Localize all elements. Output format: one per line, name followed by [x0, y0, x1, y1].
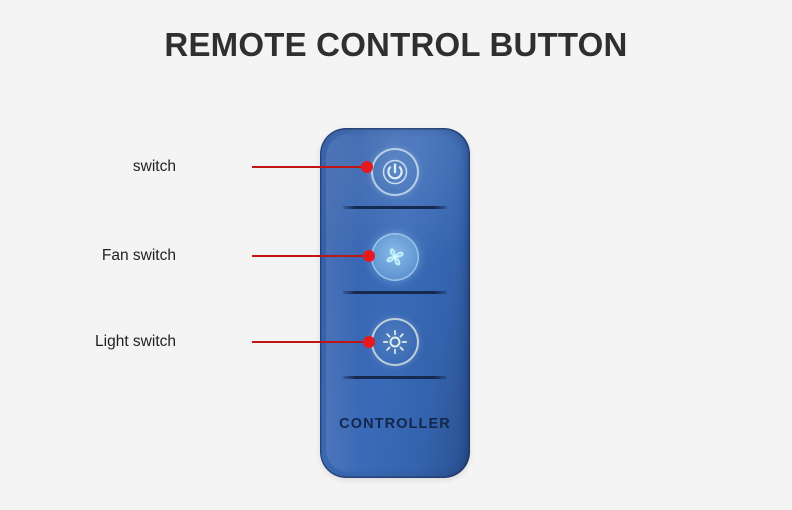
callout-label-light-switch: Light switch	[30, 333, 176, 351]
callout-leader-line	[252, 341, 370, 343]
callout-marker-dot	[363, 336, 375, 348]
callout-marker-dot	[361, 161, 373, 173]
button-divider	[343, 376, 447, 379]
power-button[interactable]	[371, 148, 419, 196]
callout-leader-line	[252, 255, 370, 257]
callout-label-switch: switch	[60, 158, 176, 176]
callout-label-fan-switch: Fan switch	[40, 247, 176, 265]
remote-control-device: CONTROLLER	[320, 128, 470, 478]
light-button[interactable]	[371, 318, 419, 366]
device-brand-text: CONTROLLER	[320, 416, 470, 432]
callout-marker-dot	[363, 250, 375, 262]
fan-button[interactable]	[371, 233, 419, 281]
button-divider	[343, 206, 447, 209]
infographic-canvas: REMOTE CONTROL BUTTON	[0, 0, 792, 510]
power-icon	[381, 158, 409, 186]
callout-leader-line	[252, 166, 368, 168]
brightness-icon	[380, 327, 410, 357]
button-divider	[343, 291, 447, 294]
page-title: REMOTE CONTROL BUTTON	[0, 26, 792, 64]
fan-icon	[380, 242, 410, 272]
